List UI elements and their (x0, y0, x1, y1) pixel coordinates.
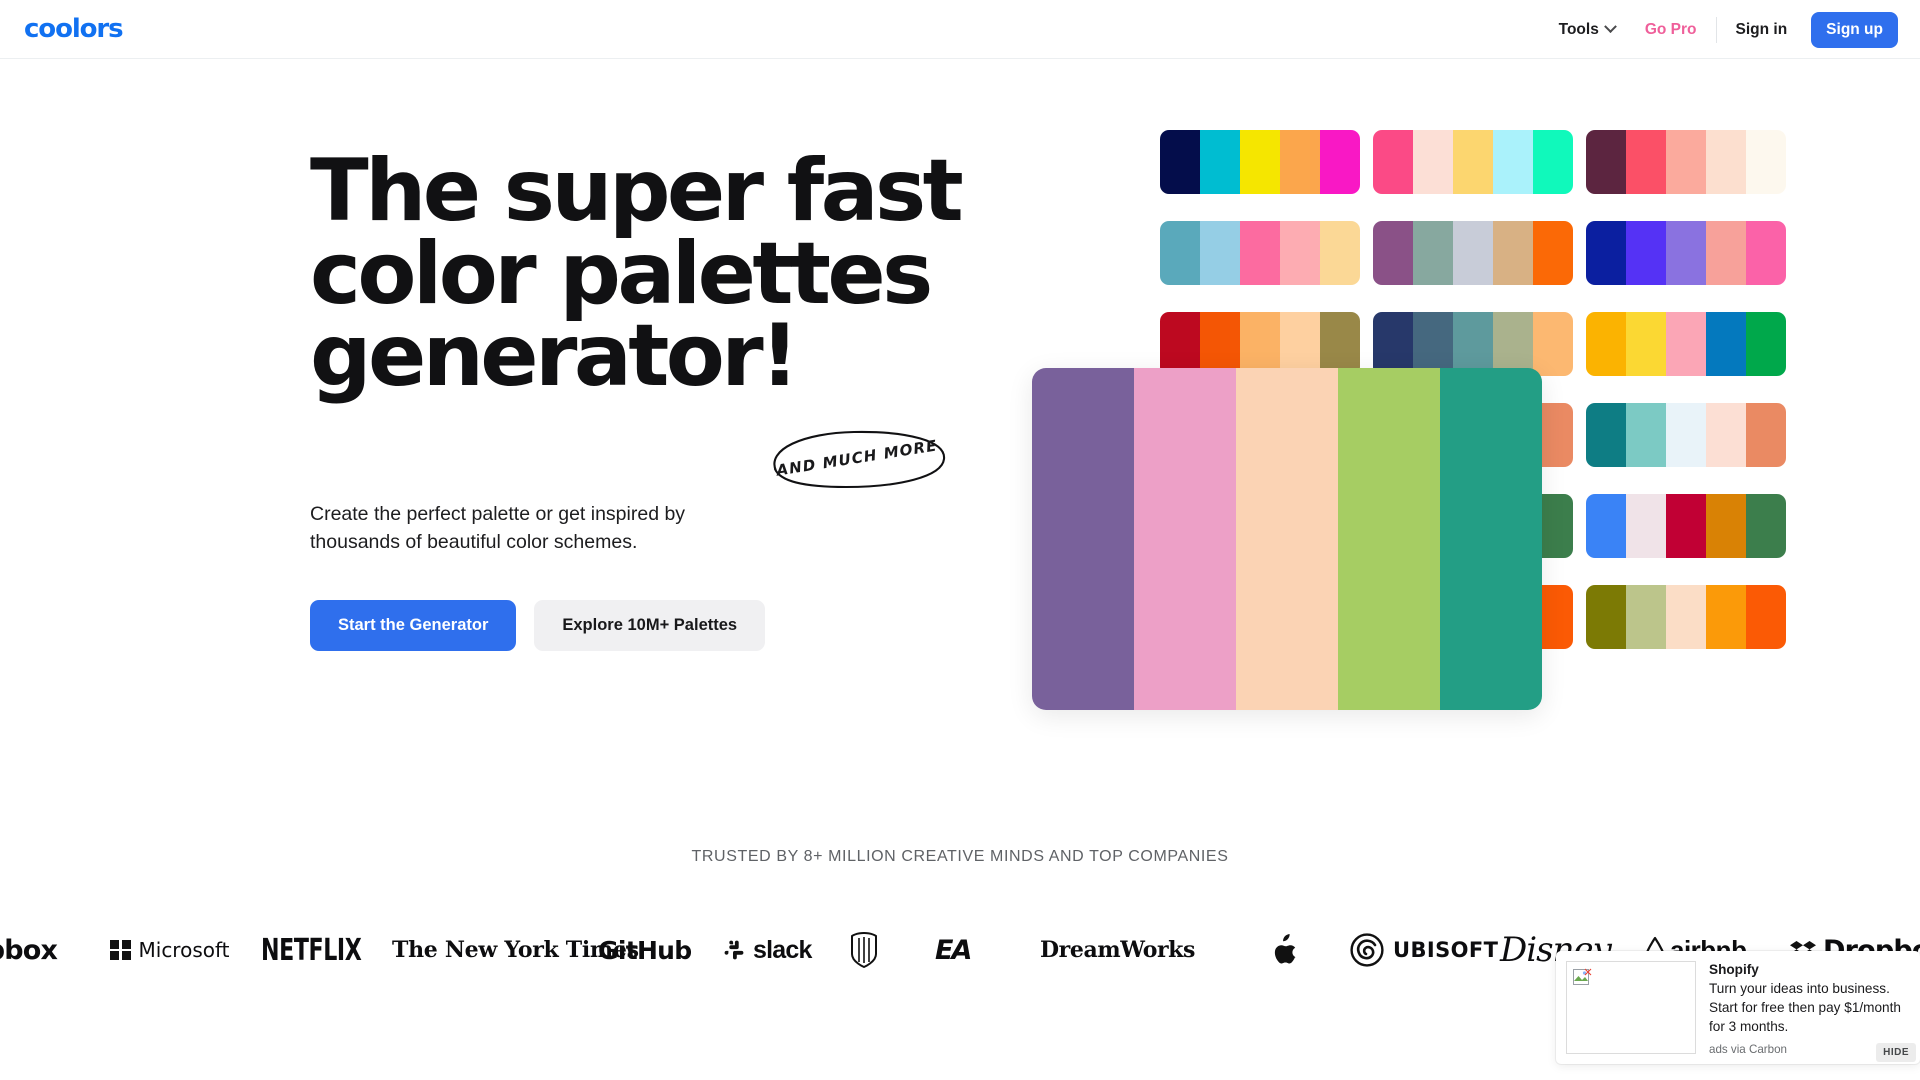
sign-up-button[interactable]: Sign up (1811, 12, 1898, 48)
logo-microsoft-label: Microsoft (139, 938, 230, 962)
palette-swatch[interactable] (1746, 585, 1786, 649)
trusted-heading: TRUSTED BY 8+ MILLION CREATIVE MINDS AND… (0, 848, 1920, 866)
featured-palette-swatch[interactable] (1134, 368, 1236, 710)
palette-swatch[interactable] (1746, 221, 1786, 285)
palette-swatch[interactable] (1626, 221, 1666, 285)
palette-swatch[interactable] (1666, 403, 1706, 467)
palette-swatch[interactable] (1200, 221, 1240, 285)
site-header: coolors Tools Go Pro Sign in Sign up (0, 0, 1920, 59)
featured-palette-swatch[interactable] (1440, 368, 1542, 710)
palette-swatch[interactable] (1586, 494, 1626, 558)
palette-swatch[interactable] (1706, 494, 1746, 558)
featured-palette-swatch[interactable] (1032, 368, 1134, 710)
logo-slack: slack (722, 915, 812, 985)
palette-swatch[interactable] (1666, 221, 1706, 285)
palette-swatch[interactable] (1200, 130, 1240, 194)
apple-icon (1272, 934, 1298, 966)
palette-swatch[interactable] (1240, 130, 1280, 194)
palette-swatch[interactable] (1746, 130, 1786, 194)
and-much-more-badge: AND MUCH MORE (762, 425, 952, 491)
logo-ea: EA (935, 915, 970, 985)
ad-body: Shopify Turn your ideas into business. S… (1696, 961, 1910, 1054)
palette-swatch[interactable] (1413, 130, 1453, 194)
palette-swatch[interactable] (1413, 221, 1453, 285)
coolors-logo[interactable]: coolors (24, 14, 123, 44)
palette-swatch[interactable] (1746, 403, 1786, 467)
carbon-ad-card[interactable]: Shopify Turn your ideas into business. S… (1556, 951, 1920, 1064)
hero-text-block: The super fast color palettes generator! (310, 150, 1050, 398)
palette-swatch[interactable] (1666, 312, 1706, 376)
palette-card[interactable] (1586, 130, 1786, 194)
hero-subtitle: Create the perfect palette or get inspir… (310, 500, 740, 557)
nav-divider (1716, 17, 1717, 43)
palette-card[interactable] (1586, 494, 1786, 558)
nav-item-sign-in[interactable]: Sign in (1721, 0, 1803, 59)
palette-swatch[interactable] (1240, 221, 1280, 285)
page-title: The super fast color palettes generator! (310, 150, 1050, 398)
palette-swatch[interactable] (1160, 312, 1200, 376)
palette-swatch[interactable] (1666, 494, 1706, 558)
palette-swatch[interactable] (1453, 221, 1493, 285)
logo-netflix: NETFLIX (261, 915, 361, 985)
palette-swatch[interactable] (1626, 403, 1666, 467)
featured-palette-swatch[interactable] (1338, 368, 1440, 710)
palette-swatch[interactable] (1373, 312, 1413, 376)
palette-swatch[interactable] (1280, 130, 1320, 194)
nav-tools-label: Tools (1559, 21, 1599, 39)
palette-swatch[interactable] (1746, 312, 1786, 376)
palette-swatch[interactable] (1493, 130, 1533, 194)
logo-dropbox: opbox (0, 915, 57, 985)
palette-swatch[interactable] (1533, 130, 1573, 194)
palette-swatch[interactable] (1280, 221, 1320, 285)
ad-hide-button[interactable]: HIDE (1876, 1043, 1916, 1062)
palette-swatch[interactable] (1706, 130, 1746, 194)
palette-swatch[interactable] (1160, 221, 1200, 285)
palette-swatch[interactable] (1746, 494, 1786, 558)
palette-card[interactable] (1586, 403, 1786, 467)
palette-swatch[interactable] (1626, 585, 1666, 649)
ad-description[interactable]: Turn your ideas into business. Start for… (1709, 980, 1910, 1036)
palette-swatch[interactable] (1586, 403, 1626, 467)
palette-card[interactable] (1373, 221, 1573, 285)
featured-palette-swatch[interactable] (1236, 368, 1338, 710)
palette-swatch[interactable] (1160, 130, 1200, 194)
palette-swatch[interactable] (1706, 221, 1746, 285)
palette-swatch[interactable] (1373, 221, 1413, 285)
palette-swatch[interactable] (1533, 221, 1573, 285)
microsoft-squares-icon (110, 940, 131, 961)
palette-swatch[interactable] (1240, 312, 1280, 376)
palette-column (1586, 130, 1786, 676)
palette-swatch[interactable] (1706, 403, 1746, 467)
logo-github: GitHub (598, 915, 691, 985)
palette-swatch[interactable] (1493, 221, 1533, 285)
palette-swatch[interactable] (1453, 312, 1493, 376)
palette-swatch[interactable] (1413, 312, 1453, 376)
ad-title[interactable]: Shopify (1709, 961, 1910, 979)
palette-card[interactable] (1586, 312, 1786, 376)
palette-swatch[interactable] (1280, 312, 1320, 376)
logo-ubisoft: UBISOFT (1350, 915, 1498, 985)
logo-ubisoft-label: UBISOFT (1393, 938, 1498, 962)
nav-item-go-pro[interactable]: Go Pro (1630, 0, 1712, 59)
logo-warner-bros (850, 915, 878, 985)
start-generator-button[interactable]: Start the Generator (310, 600, 516, 651)
palette-swatch[interactable] (1586, 130, 1626, 194)
logo-slack-label: slack (753, 936, 812, 965)
ubisoft-swirl-icon (1350, 933, 1384, 967)
palette-swatch[interactable] (1626, 312, 1666, 376)
main-navigation: Tools Go Pro Sign in Sign up (1544, 0, 1898, 59)
hero-cta-row: Start the Generator Explore 10M+ Palette… (310, 600, 765, 651)
palette-swatch[interactable] (1493, 312, 1533, 376)
palette-card[interactable] (1373, 312, 1573, 376)
warner-bros-shield-icon (850, 932, 878, 968)
palette-swatch[interactable] (1200, 312, 1240, 376)
palette-swatch[interactable] (1706, 585, 1746, 649)
palette-swatch[interactable] (1666, 585, 1706, 649)
palette-swatch[interactable] (1586, 585, 1626, 649)
palette-card[interactable] (1586, 585, 1786, 649)
logo-apple (1272, 915, 1298, 985)
broken-image-icon (1573, 968, 1592, 987)
palette-swatch[interactable] (1706, 312, 1746, 376)
palette-swatch[interactable] (1320, 312, 1360, 376)
ad-image-placeholder (1566, 961, 1696, 1054)
palette-swatch[interactable] (1626, 130, 1666, 194)
palette-swatch[interactable] (1320, 130, 1360, 194)
palette-card[interactable] (1373, 130, 1573, 194)
palette-card[interactable] (1586, 221, 1786, 285)
palette-card[interactable] (1160, 130, 1360, 194)
palette-swatch[interactable] (1586, 312, 1626, 376)
featured-palette-card[interactable] (1032, 368, 1542, 710)
palette-card[interactable] (1160, 221, 1360, 285)
palette-swatch[interactable] (1666, 130, 1706, 194)
logo-microsoft: Microsoft (110, 915, 230, 985)
nav-item-tools[interactable]: Tools (1544, 0, 1630, 59)
chevron-down-icon (1604, 20, 1617, 33)
palette-swatch[interactable] (1320, 221, 1360, 285)
palette-swatch[interactable] (1373, 130, 1413, 194)
explore-palettes-button[interactable]: Explore 10M+ Palettes (534, 600, 765, 651)
palette-swatch[interactable] (1453, 130, 1493, 194)
palette-swatch[interactable] (1533, 312, 1573, 376)
palette-swatch[interactable] (1586, 221, 1626, 285)
palette-card[interactable] (1160, 312, 1360, 376)
logo-dreamworks: DreamWorks (1040, 915, 1195, 985)
palette-swatch[interactable] (1626, 494, 1666, 558)
slack-hash-icon (722, 938, 746, 962)
